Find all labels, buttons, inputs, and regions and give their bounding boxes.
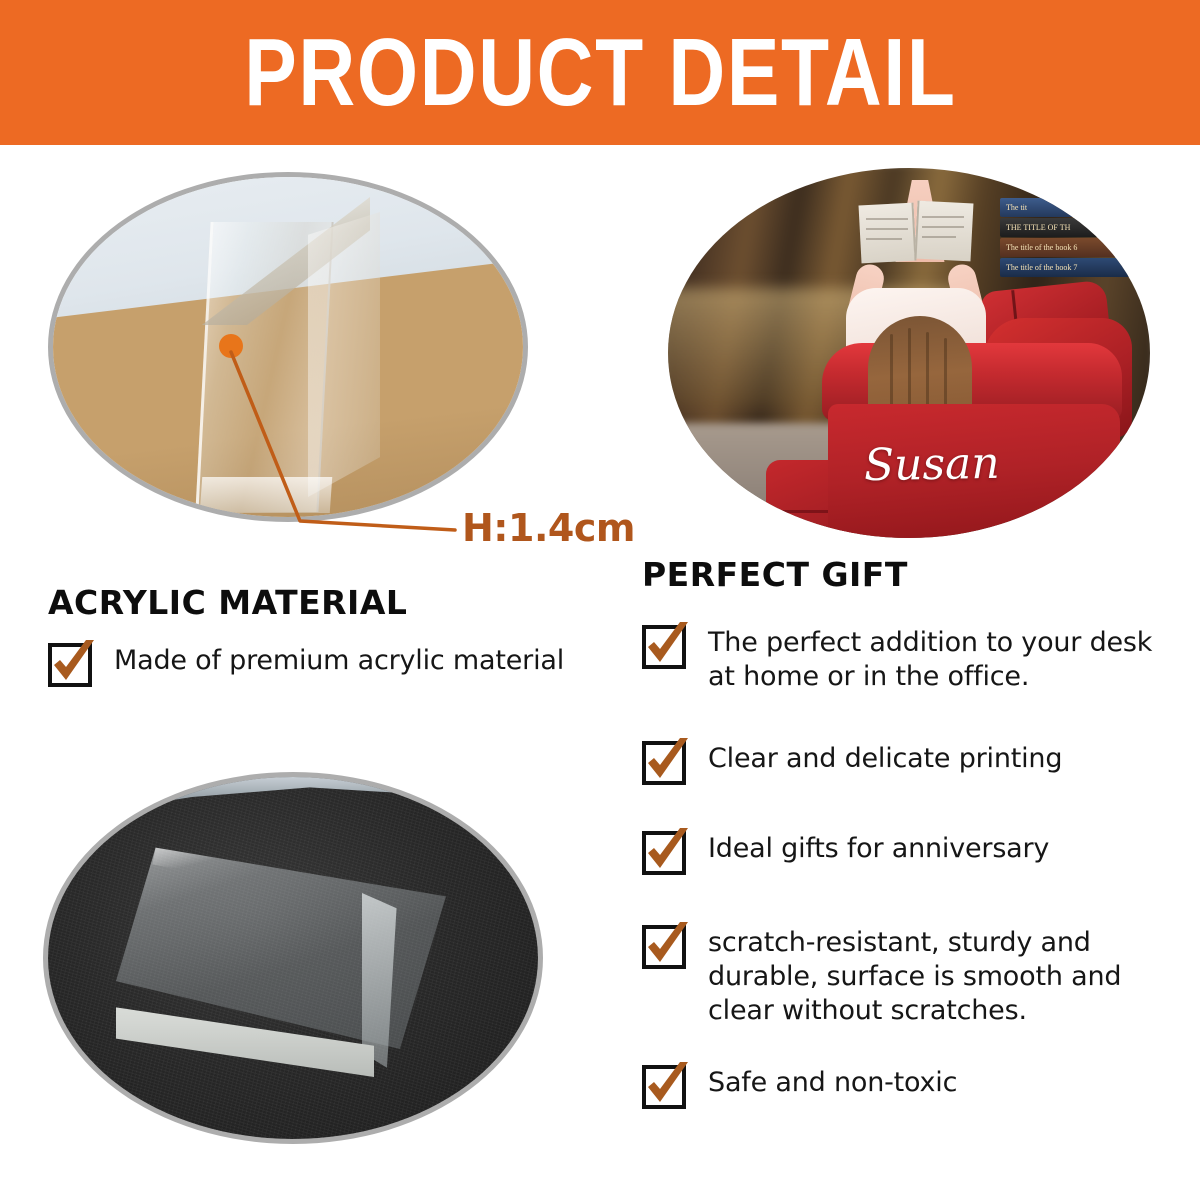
book-spine: The title of the book 7 bbox=[1000, 258, 1150, 277]
woman-reading-on-red-chair-photo: The tit THE TITLE OF TH The title of the… bbox=[668, 168, 1150, 538]
acrylic-block-edge-photo bbox=[48, 172, 528, 522]
book-right-page bbox=[915, 201, 974, 262]
section-heading-perfect-gift: PERFECT GIFT bbox=[642, 556, 908, 594]
acrylic-edge-photo-content bbox=[53, 177, 523, 517]
feature-text: The perfect addition to your desk at hom… bbox=[708, 626, 1178, 694]
page-title: PRODUCT DETAIL bbox=[244, 25, 956, 121]
checkmark-icon bbox=[642, 920, 692, 970]
acrylic-block-side-face bbox=[308, 212, 380, 497]
checkmark-glyph bbox=[642, 620, 692, 670]
checkmark-icon bbox=[642, 620, 692, 670]
book-spine: The tit bbox=[1000, 198, 1110, 217]
checkmark-icon bbox=[48, 638, 98, 688]
checkmark-icon bbox=[642, 736, 692, 786]
stacked-books: The tit THE TITLE OF TH The title of the… bbox=[1000, 198, 1150, 282]
acrylic-block-photo-content bbox=[48, 777, 538, 1139]
feature-text: Clear and delicate printing bbox=[708, 742, 1178, 776]
dimension-dot-icon bbox=[219, 334, 243, 358]
book-text-line bbox=[866, 228, 908, 230]
checkmark-glyph bbox=[642, 736, 692, 786]
checkmark-glyph bbox=[48, 638, 98, 688]
book-spine: THE TITLE OF TH bbox=[1000, 218, 1130, 237]
book-left-page bbox=[859, 203, 917, 264]
checkmark-glyph bbox=[642, 1060, 692, 1110]
book-text-line bbox=[922, 236, 956, 238]
lifestyle-photo-content: The tit THE TITLE OF TH The title of the… bbox=[668, 168, 1150, 538]
book-text-line bbox=[922, 226, 964, 228]
acrylic-block-on-slate-photo bbox=[43, 772, 543, 1144]
book-text-line bbox=[866, 238, 902, 240]
open-book-icon bbox=[860, 202, 972, 264]
book-spine: The title of the book 6 bbox=[1000, 238, 1148, 257]
feature-text: Ideal gifts for anniversary bbox=[708, 832, 1178, 866]
checkmark-icon bbox=[642, 1060, 692, 1110]
book-text-line bbox=[922, 216, 964, 218]
feature-text: scratch-resistant, sturdy and durable, s… bbox=[708, 926, 1178, 1028]
checkmark-icon bbox=[642, 826, 692, 876]
checkmark-glyph bbox=[642, 826, 692, 876]
product-detail-banner: PRODUCT DETAIL bbox=[0, 0, 1200, 145]
checkmark-glyph bbox=[642, 920, 692, 970]
feature-text: Made of premium acrylic material bbox=[114, 644, 614, 678]
acrylic-square-block bbox=[116, 837, 446, 1087]
feature-text: Safe and non-toxic bbox=[708, 1066, 1178, 1100]
dimension-label: H:1.4cm bbox=[462, 506, 635, 550]
book-text-line bbox=[866, 218, 908, 220]
section-heading-acrylic-material: ACRYLIC MATERIAL bbox=[48, 584, 407, 622]
personalized-name-text: Susan bbox=[864, 439, 1000, 491]
acrylic-block-base-highlight bbox=[200, 477, 333, 513]
